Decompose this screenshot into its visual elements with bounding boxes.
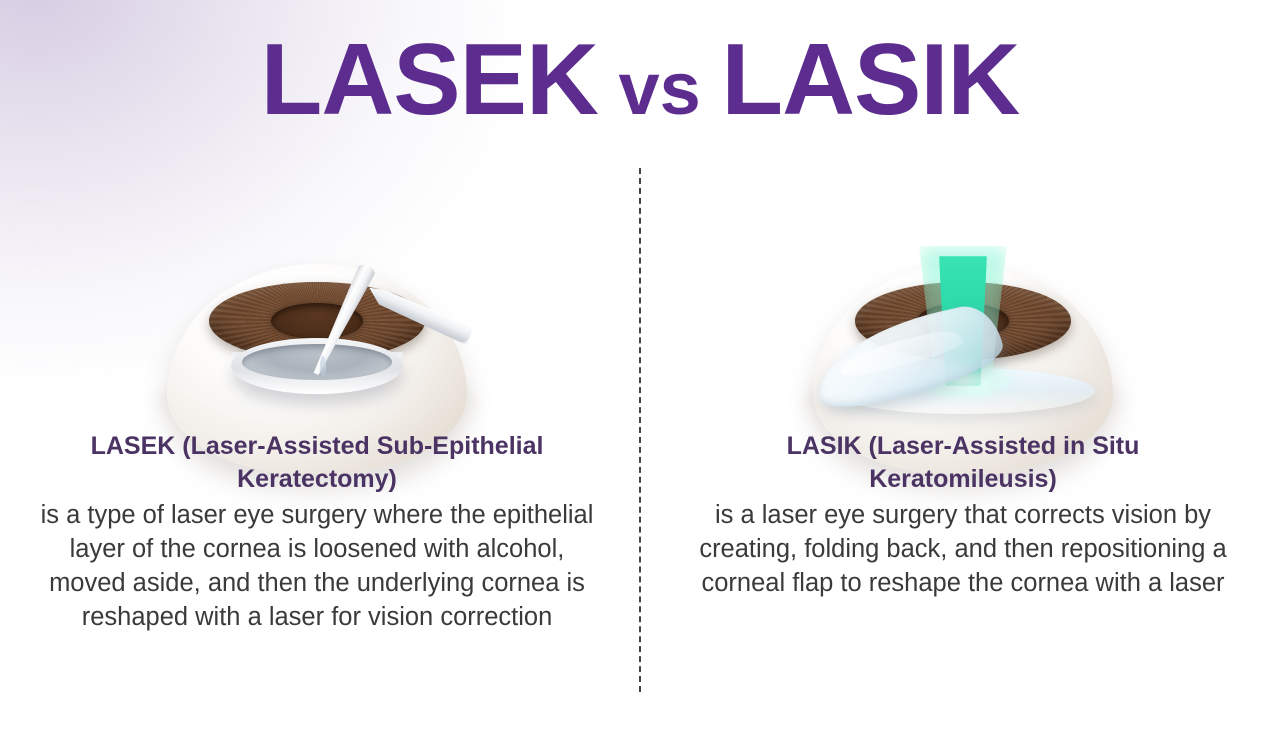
lasek-eye-group: [152, 256, 482, 406]
page-title: LASEK vs LASIK: [0, 26, 1280, 135]
alcohol-well-liquid: [242, 344, 392, 380]
lasik-eye-group: [798, 256, 1128, 406]
page-title-right: LASIK: [721, 24, 1019, 136]
lasek-body-text: is a type of laser eye surgery where the…: [37, 498, 597, 635]
lasek-caption: LASEK (Laser-Assisted Sub-Epithelial Ker…: [12, 430, 622, 635]
column-divider: [639, 168, 641, 692]
lasek-eye-illustration: [12, 168, 622, 406]
lasik-body-text: is a laser eye surgery that corrects vis…: [673, 498, 1253, 600]
lasik-eye-illustration: [658, 168, 1268, 406]
lasik-heading: LASIK (Laser-Assisted in Situ Keratomile…: [703, 430, 1223, 496]
lasek-heading: LASEK (Laser-Assisted Sub-Epithelial Ker…: [47, 430, 587, 496]
alcohol-droplet-icon: [320, 356, 326, 376]
column-lasek: LASEK (Laser-Assisted Sub-Epithelial Ker…: [12, 168, 622, 713]
lasik-caption: LASIK (Laser-Assisted in Situ Keratomile…: [658, 430, 1268, 600]
column-lasik: LASIK (Laser-Assisted in Situ Keratomile…: [658, 168, 1268, 713]
infographic-page: LASEK vs LASIK LASEK (Laser-Assist: [0, 0, 1280, 730]
page-title-left: LASEK: [261, 24, 598, 136]
page-title-vs: vs: [619, 47, 701, 130]
